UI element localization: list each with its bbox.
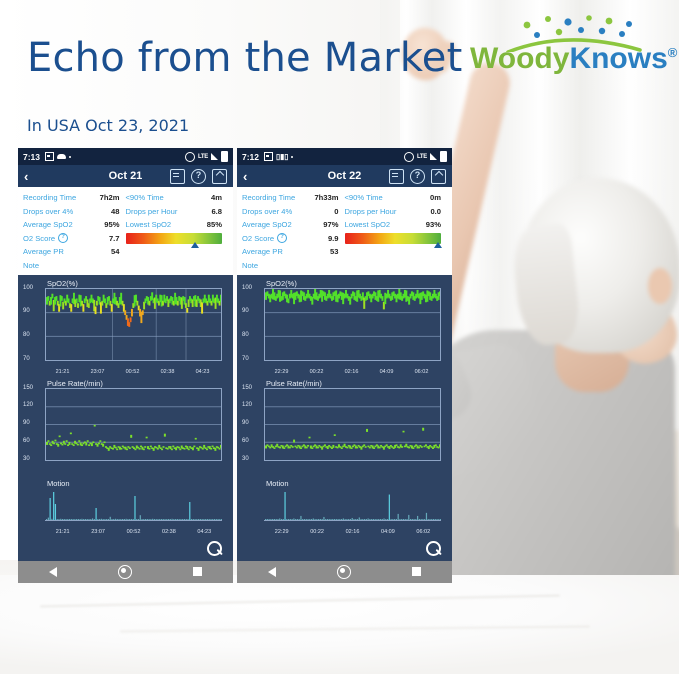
- average-pr-value: 53: [330, 247, 344, 256]
- x-axis-tick: 00:52: [127, 529, 141, 535]
- x-axis-tick: 23:07: [91, 369, 105, 375]
- motion-plot-area: [264, 488, 441, 521]
- motion-chart-title: Motion: [266, 479, 289, 488]
- drops-per-hour-label: Drops per Hour: [126, 207, 178, 216]
- x-axis-tick: 23:07: [91, 529, 105, 535]
- y-axis-tick: 30: [23, 456, 30, 462]
- drops-over-4-cell: Drops over 4% 48: [23, 207, 126, 216]
- status-bar-right-icons: LTE: [185, 151, 228, 162]
- average-spo2-label: Average SpO2: [23, 220, 73, 229]
- y-axis-tick: 120: [242, 402, 252, 408]
- search-icon[interactable]: [207, 541, 223, 557]
- x-axis-tick: 22:29: [275, 369, 289, 375]
- o2-score-gradient-bar: [345, 233, 442, 244]
- spo2-chart[interactable]: SpO2(%) 10090807022:2900:2202:1604:0906:…: [240, 277, 449, 375]
- x-axis-tick: 04:09: [381, 529, 395, 535]
- o2-score-label: O2 Score: [242, 234, 274, 243]
- edit-note-icon[interactable]: [170, 169, 185, 184]
- recording-time-cell: Recording Time 7h33m: [242, 193, 345, 202]
- o2-score-gradient-bar: [126, 233, 223, 244]
- logo-wordmark: WoodyKnows®: [470, 42, 677, 76]
- edit-note-icon[interactable]: [389, 169, 404, 184]
- under90-time-value: 4m: [211, 193, 228, 202]
- app-bar: ‹ Oct 21 ?: [18, 165, 233, 187]
- o2-score-label: O2 Score: [23, 234, 55, 243]
- alarm-icon: [404, 152, 414, 162]
- summary-row: O2 Score ? 9.9: [242, 232, 447, 246]
- share-icon[interactable]: [212, 169, 227, 184]
- summary-row: Recording Time 7h2m <90% Time 4m: [23, 191, 228, 205]
- y-axis-tick: 70: [242, 356, 249, 362]
- pulse-rate-chart[interactable]: Pulse Rate(/min) 150120906030: [240, 377, 449, 475]
- y-axis-tick: 90: [242, 420, 249, 426]
- dot-icon: [291, 156, 293, 158]
- recording-time-cell: Recording Time 7h2m: [23, 193, 126, 202]
- note-label: Note: [23, 261, 39, 270]
- y-axis-tick: 60: [23, 438, 30, 444]
- app-bar-actions: ?: [170, 169, 227, 184]
- under90-time-value: 0m: [430, 193, 447, 202]
- summary-row: Average SpO2 97% Lowest SpO2 93%: [242, 218, 447, 232]
- under90-time-cell: <90% Time 0m: [345, 193, 448, 202]
- status-bar-right-icons: LTE: [404, 151, 447, 162]
- vibrate-icon: ▯▮▯: [276, 153, 288, 161]
- o2-score-value: 9.9: [328, 234, 345, 243]
- y-axis-tick: 150: [23, 385, 33, 391]
- signal-icon: [430, 153, 437, 160]
- recording-time-value: 7h33m: [314, 193, 344, 202]
- x-axis-tick: 04:23: [196, 369, 210, 375]
- page-subtitle: In USA Oct 23, 2021: [27, 116, 189, 135]
- drops-over-4-cell: Drops over 4% 0: [242, 207, 345, 216]
- y-axis-tick: 100: [242, 285, 252, 291]
- y-axis-tick: 90: [242, 308, 249, 314]
- average-pr-value: 54: [111, 247, 125, 256]
- note-row[interactable]: Note: [23, 259, 228, 272]
- recents-square-icon[interactable]: [193, 567, 202, 576]
- alarm-icon: [185, 152, 195, 162]
- x-axis-tick: 22:29: [275, 529, 289, 535]
- x-axis-tick: 06:02: [415, 369, 429, 375]
- recording-time-value: 7h2m: [100, 193, 126, 202]
- y-axis-tick: 120: [23, 402, 33, 408]
- y-axis-tick: 150: [242, 385, 252, 391]
- android-status-bar: 7:12 ▯▮▯ LTE: [237, 148, 452, 165]
- battery-icon: [440, 151, 447, 162]
- x-axis-tick: 21:21: [56, 369, 70, 375]
- average-pr-label: Average PR: [242, 247, 283, 256]
- x-axis-tick: 00:52: [126, 369, 140, 375]
- summary-row: Average PR 53: [242, 245, 447, 259]
- chart-series: [265, 389, 440, 460]
- drops-per-hour-label: Drops per Hour: [345, 207, 397, 216]
- y-axis-tick: 90: [23, 420, 30, 426]
- summary-row: O2 Score ? 7.7: [23, 232, 228, 246]
- o2-score-value: 7.7: [109, 234, 126, 243]
- under90-time-label: <90% Time: [345, 193, 383, 202]
- android-nav-bar: [237, 561, 452, 583]
- average-spo2-value: 97%: [323, 220, 344, 229]
- summary-row: Drops over 4% 48 Drops per Hour 6.8: [23, 205, 228, 219]
- motion-plot-area: [45, 488, 222, 521]
- lte-icon: LTE: [198, 154, 208, 160]
- x-axis-tick: 04:23: [197, 529, 211, 535]
- y-axis-tick: 100: [23, 285, 33, 291]
- x-axis-tick: 04:09: [380, 369, 394, 375]
- y-axis-tick: 80: [242, 332, 249, 338]
- average-spo2-cell: Average SpO2 97%: [242, 220, 345, 229]
- average-spo2-value: 95%: [104, 220, 125, 229]
- sim-icon: [45, 152, 54, 161]
- y-axis-tick: 80: [23, 332, 30, 338]
- android-nav-bar: [18, 561, 233, 583]
- back-button[interactable]: ‹: [24, 169, 28, 184]
- drops-per-hour-cell: Drops per Hour 6.8: [126, 207, 229, 216]
- lowest-spo2-cell: Lowest SpO2 93%: [345, 220, 448, 229]
- signal-icon: [211, 153, 218, 160]
- under90-time-cell: <90% Time 4m: [126, 193, 229, 202]
- motion-chart[interactable]: Motion 22:2900:2202:1604:0906:02: [240, 477, 449, 535]
- chart-series: [265, 289, 440, 360]
- average-pr-label: Average PR: [23, 247, 64, 256]
- pulse-rate-plot-area: [45, 388, 222, 461]
- o2-score-gauge: [345, 232, 448, 246]
- x-axis-tick: 21:21: [56, 529, 70, 535]
- back-button[interactable]: ‹: [243, 169, 247, 184]
- logo-woody-text: Woody: [470, 42, 569, 75]
- woodyknows-logo: WoodyKnows®: [462, 12, 667, 84]
- app-bar-actions: ?: [389, 169, 446, 184]
- o2-score-gauge: [126, 232, 229, 246]
- dot-icon: [69, 156, 71, 158]
- note-label: Note: [242, 261, 258, 270]
- x-axis-tick: 02:16: [345, 369, 359, 375]
- android-status-bar: 7:13 LTE: [18, 148, 233, 165]
- note-row[interactable]: Note: [242, 259, 447, 272]
- back-triangle-icon[interactable]: [49, 567, 57, 577]
- search-icon[interactable]: [426, 541, 442, 557]
- home-circle-icon[interactable]: [337, 565, 351, 579]
- x-axis-tick: 02:16: [346, 529, 360, 535]
- y-axis-tick: 70: [23, 356, 30, 362]
- lowest-spo2-label: Lowest SpO2: [345, 220, 391, 229]
- lte-icon: LTE: [417, 154, 427, 160]
- x-axis-tick: 02:38: [161, 369, 175, 375]
- lowest-spo2-label: Lowest SpO2: [126, 220, 172, 229]
- pulse-rate-chart-title: Pulse Rate(/min): [266, 379, 322, 388]
- drops-per-hour-cell: Drops per Hour 0.0: [345, 207, 448, 216]
- bed-sheet: [0, 575, 679, 674]
- under90-time-label: <90% Time: [126, 193, 164, 202]
- chart-footer: [18, 537, 233, 561]
- average-spo2-label: Average SpO2: [242, 220, 292, 229]
- summary-panel: Recording Time 7h2m <90% Time 4m Drops o…: [18, 187, 233, 275]
- battery-icon: [221, 151, 228, 162]
- chart-series: [45, 488, 222, 520]
- chart-series: [46, 389, 221, 460]
- lowest-spo2-cell: Lowest SpO2 85%: [126, 220, 229, 229]
- logo-registered-mark: ®: [668, 45, 678, 60]
- summary-panel: Recording Time 7h33m <90% Time 0m Drops …: [237, 187, 452, 275]
- y-axis-tick: 60: [242, 438, 249, 444]
- status-bar-time: 7:12: [242, 152, 259, 162]
- recording-time-label: Recording Time: [242, 193, 295, 202]
- charts-panel: SpO2(%) 10090807021:2123:0700:5202:3804:…: [18, 275, 233, 561]
- x-axis-tick: 06:02: [416, 529, 430, 535]
- spo2-chart-title: SpO2(%): [47, 279, 78, 288]
- spo2-chart[interactable]: SpO2(%) 10090807021:2123:0700:5202:3804:…: [21, 277, 230, 375]
- pulse-rate-plot-area: [264, 388, 441, 461]
- status-bar-time: 7:13: [23, 152, 40, 162]
- home-circle-icon[interactable]: [118, 565, 132, 579]
- o2-score-help-icon[interactable]: ?: [58, 233, 68, 243]
- lowest-spo2-value: 85%: [207, 220, 228, 229]
- y-axis-tick: 90: [23, 308, 30, 314]
- o2-score-cell: O2 Score ? 9.9: [242, 233, 345, 243]
- o2-score-help-icon[interactable]: ?: [277, 233, 287, 243]
- chart-series: [46, 289, 221, 360]
- average-pr-cell: Average PR 54: [23, 247, 126, 256]
- spo2-plot-area: [45, 288, 222, 361]
- cloud-icon: [57, 154, 66, 159]
- y-axis-tick: 30: [242, 456, 249, 462]
- drops-over-4-value: 0: [334, 207, 344, 216]
- o2-score-cell: O2 Score ? 7.7: [23, 233, 126, 243]
- motion-chart[interactable]: Motion 21:2123:0700:5202:3804:23: [21, 477, 230, 535]
- back-triangle-icon[interactable]: [268, 567, 276, 577]
- help-icon[interactable]: ?: [191, 169, 206, 184]
- pulse-rate-chart[interactable]: Pulse Rate(/min) 150120906030: [21, 377, 230, 475]
- x-axis-tick: 00:22: [310, 529, 324, 535]
- page-title: Echo from the Market: [27, 35, 462, 81]
- summary-row: Average SpO2 95% Lowest SpO2 85%: [23, 218, 228, 232]
- spo2-chart-title: SpO2(%): [266, 279, 297, 288]
- phone-screenshot-oct22: 7:12 ▯▮▯ LTE ‹ Oct 22 ? Recording Time 7…: [237, 148, 452, 583]
- lowest-spo2-value: 93%: [426, 220, 447, 229]
- pulse-rate-chart-title: Pulse Rate(/min): [47, 379, 103, 388]
- recents-square-icon[interactable]: [412, 567, 421, 576]
- drops-per-hour-value: 0.0: [430, 207, 447, 216]
- person-ear: [648, 268, 672, 304]
- drops-over-4-value: 48: [111, 207, 125, 216]
- help-icon[interactable]: ?: [410, 169, 425, 184]
- status-bar-left-icons: ▯▮▯: [264, 152, 293, 161]
- o2-score-marker: [434, 242, 442, 248]
- phone-screenshot-oct21: 7:13 LTE ‹ Oct 21 ? Recording Time 7h2m: [18, 148, 233, 583]
- summary-row: Drops over 4% 0 Drops per Hour 0.0: [242, 205, 447, 219]
- spo2-plot-area: [264, 288, 441, 361]
- drops-over-4-label: Drops over 4%: [242, 207, 292, 216]
- charts-panel: SpO2(%) 10090807022:2900:2202:1604:0906:…: [237, 275, 452, 561]
- chart-series: [264, 488, 441, 520]
- chart-footer: [237, 537, 452, 561]
- drops-over-4-label: Drops over 4%: [23, 207, 73, 216]
- summary-row: Recording Time 7h33m <90% Time 0m: [242, 191, 447, 205]
- app-bar: ‹ Oct 22 ?: [237, 165, 452, 187]
- status-bar-left-icons: [45, 152, 71, 161]
- average-spo2-cell: Average SpO2 95%: [23, 220, 126, 229]
- drops-per-hour-value: 6.8: [211, 207, 228, 216]
- average-pr-cell: Average PR 53: [242, 247, 345, 256]
- x-axis-tick: 00:22: [310, 369, 324, 375]
- logo-knows-text: Knows: [569, 42, 667, 75]
- x-axis-tick: 02:38: [162, 529, 176, 535]
- o2-score-marker: [191, 242, 199, 248]
- share-icon[interactable]: [431, 169, 446, 184]
- recording-time-label: Recording Time: [23, 193, 76, 202]
- sim-icon: [264, 152, 273, 161]
- motion-chart-title: Motion: [47, 479, 70, 488]
